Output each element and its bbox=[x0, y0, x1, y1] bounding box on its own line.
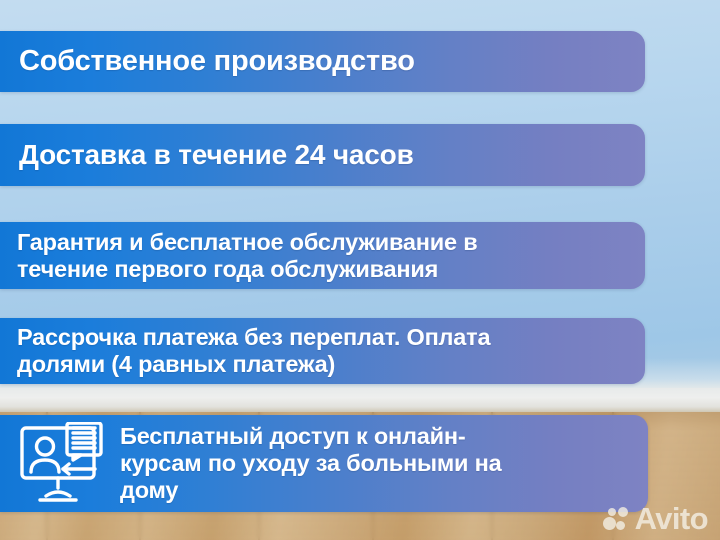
feature-bar-label: Гарантия и бесплатное обслуживание в теч… bbox=[17, 229, 477, 282]
feature-bar-free-online-courses[interactable]: Бесплатный доступ к онлайн- курсам по ух… bbox=[0, 415, 648, 512]
feature-bar-delivery-24h[interactable]: Доставка в течение 24 часов bbox=[0, 124, 645, 186]
avito-wordmark: Avito bbox=[635, 503, 708, 534]
feature-bar-installment-payment[interactable]: Рассрочка платежа без переплат. Оплата д… bbox=[0, 318, 645, 384]
feature-bar-label: Собственное производство bbox=[19, 46, 415, 76]
feature-bar-label: Бесплатный доступ к онлайн- курсам по ух… bbox=[120, 423, 502, 503]
avito-watermark: Avito bbox=[603, 503, 708, 534]
feature-bar-own-production[interactable]: Собственное производство bbox=[0, 31, 645, 92]
online-course-monitor-icon bbox=[14, 421, 112, 507]
feature-bar-label: Рассрочка платежа без переплат. Оплата д… bbox=[17, 324, 490, 377]
feature-bar-warranty-free-service[interactable]: Гарантия и бесплатное обслуживание в теч… bbox=[0, 222, 645, 289]
feature-bar-list: Собственное производство Доставка в тече… bbox=[0, 0, 720, 540]
avito-dots-logo bbox=[603, 505, 630, 532]
feature-bar-label: Доставка в течение 24 часов bbox=[19, 140, 414, 169]
